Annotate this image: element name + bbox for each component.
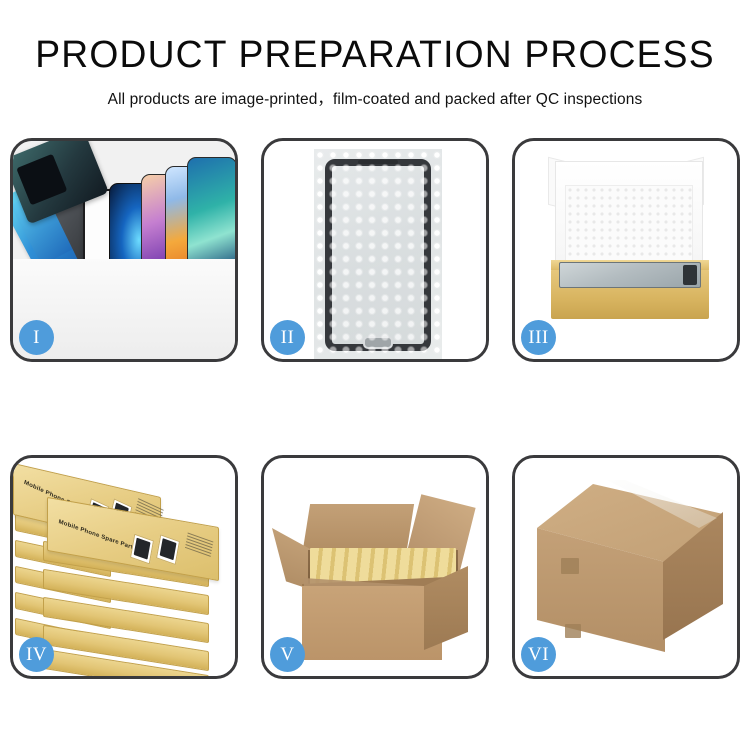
battery-connector — [81, 337, 93, 353]
packed-screen — [559, 262, 701, 288]
box-photo-2b — [156, 534, 180, 565]
screwdriver-tool — [192, 298, 223, 323]
vibrator-motor — [105, 339, 119, 351]
speaker-part — [99, 281, 121, 303]
phone-teal-wallpaper — [187, 157, 235, 269]
page-title: PRODUCT PREPARATION PROCESS — [8, 36, 743, 76]
box-photo-2a — [130, 534, 154, 565]
step-badge-2: II — [270, 320, 305, 355]
sim-tray-grid — [95, 311, 129, 333]
product-preparation-infographic: PRODUCT PREPARATION PROCESS All products… — [0, 0, 750, 750]
step-badge-3: III — [521, 320, 556, 355]
process-step-grid: I II — [10, 138, 740, 679]
tape-tab-upper — [561, 558, 579, 574]
box-spec-lines-2 — [185, 533, 214, 559]
small-component-1 — [75, 319, 93, 333]
screw-set — [125, 337, 135, 351]
tape-tab-lower — [565, 624, 581, 638]
camera-module — [131, 293, 145, 301]
process-step-card-5: V — [261, 455, 489, 679]
flex-cable-1 — [70, 293, 100, 298]
carton-front-face — [302, 586, 442, 660]
step-badge-6: VI — [521, 637, 556, 672]
process-step-card-2: II — [261, 138, 489, 362]
process-step-card-6: VI — [512, 455, 740, 679]
step-badge-5: V — [270, 637, 305, 672]
wrapped-lcd-screen — [325, 159, 431, 351]
step-badge-4: IV — [19, 637, 54, 672]
small-component-2 — [117, 327, 141, 337]
process-step-card-1: I — [10, 138, 238, 362]
page-subtitle: All products are image-printed，film-coat… — [0, 87, 750, 109]
box-brand-label-2: Mobile Phone Spare Parts — [58, 519, 137, 552]
process-step-card-4: Mobile Phone Spare Parts Mobile — [10, 455, 238, 679]
header: PRODUCT PREPARATION PROCESS All products… — [0, 0, 750, 109]
process-step-card-3: III — [512, 138, 740, 362]
step-badge-1: I — [19, 320, 54, 355]
